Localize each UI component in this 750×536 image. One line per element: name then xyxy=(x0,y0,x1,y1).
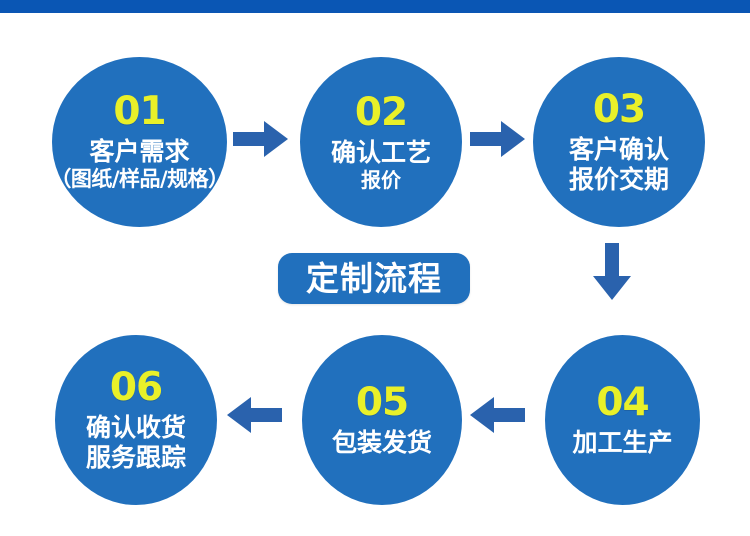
diagram-title-text: 定制流程 xyxy=(306,262,442,295)
process-step-03[interactable]: 03 客户确认 报价交期 xyxy=(533,57,705,227)
arrow-left-icon-step5-to-step6 xyxy=(227,396,283,434)
top-accent-bar xyxy=(0,0,750,13)
diagram-title-badge: 定制流程 xyxy=(278,253,470,304)
arrow-left-icon-step4-to-step5 xyxy=(470,396,526,434)
flowchart-canvas: 01 客户需求 （图纸/样品/规格） 02 确认工艺 报价 03 客户确认 报价… xyxy=(0,0,750,536)
step-number-01: 01 xyxy=(113,92,165,131)
arrow-down-icon-step3-to-step4 xyxy=(592,243,632,301)
step-label-line1-05: 包装发货 xyxy=(332,429,432,457)
step-label-line1-04: 加工生产 xyxy=(572,429,672,457)
step-label-line1-02: 确认工艺 xyxy=(331,139,431,167)
step-label-group-05: 包装发货 xyxy=(332,429,432,457)
process-step-05[interactable]: 05 包装发货 xyxy=(302,335,462,505)
step-label-line2-02: 报价 xyxy=(361,169,401,191)
process-step-06[interactable]: 06 确认收货 服务跟踪 xyxy=(55,335,217,505)
process-step-04[interactable]: 04 加工生产 xyxy=(545,335,700,505)
step-label-group-03: 客户确认 报价交期 xyxy=(569,136,669,194)
step-number-04: 04 xyxy=(596,383,648,422)
arrow-right-icon-step2-to-step3 xyxy=(470,120,526,158)
step-label-group-01: 客户需求 （图纸/样品/规格） xyxy=(50,138,228,192)
arrow-right-icon-step1-to-step2 xyxy=(233,120,289,158)
step-label-group-02: 确认工艺 报价 xyxy=(331,139,431,191)
step-number-02: 02 xyxy=(355,93,407,132)
process-step-02[interactable]: 02 确认工艺 报价 xyxy=(300,57,462,227)
step-label-group-06: 确认收货 服务跟踪 xyxy=(86,414,186,472)
step-label-line2-06: 服务跟踪 xyxy=(86,444,186,472)
step-label-group-04: 加工生产 xyxy=(572,429,672,457)
step-label-line2-03: 报价交期 xyxy=(569,166,669,194)
step-number-05: 05 xyxy=(356,383,408,422)
step-label-line2-01: （图纸/样品/规格） xyxy=(50,168,228,192)
step-number-06: 06 xyxy=(110,368,162,407)
step-label-line1-01: 客户需求 xyxy=(89,138,189,166)
process-step-01[interactable]: 01 客户需求 （图纸/样品/规格） xyxy=(52,57,227,227)
step-label-line1-06: 确认收货 xyxy=(86,414,186,442)
step-number-03: 03 xyxy=(593,90,645,129)
step-label-line1-03: 客户确认 xyxy=(569,136,669,164)
